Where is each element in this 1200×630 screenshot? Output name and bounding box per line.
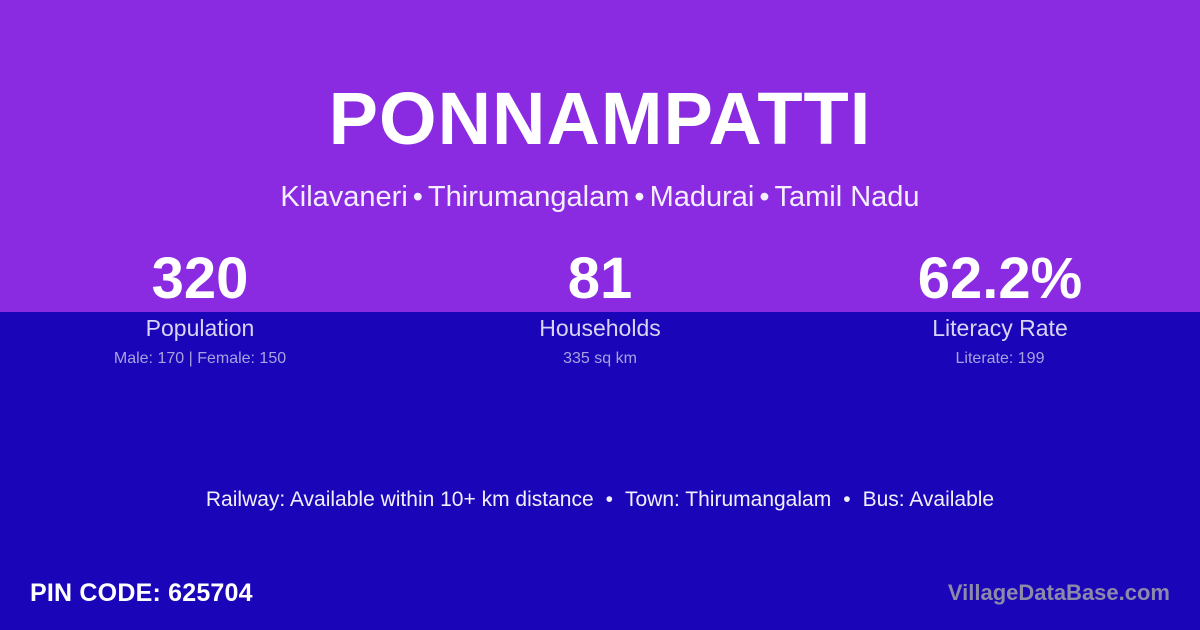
stats-row: 320 Population Male: 170 | Female: 150 8… bbox=[0, 246, 1200, 369]
breadcrumb-separator-1: • bbox=[408, 181, 428, 213]
stat-population: 320 Population Male: 170 | Female: 150 bbox=[0, 246, 400, 369]
breadcrumb-district: Madurai bbox=[650, 181, 755, 213]
stat-population-label: Population bbox=[0, 313, 400, 343]
stat-literacy-rate-sub: Literate: 199 bbox=[800, 349, 1200, 369]
amenity-separator-1: • bbox=[594, 488, 625, 511]
site-brand: VillageDataBase.com bbox=[948, 579, 1170, 607]
page-title: PONNAMPATTI bbox=[0, 82, 1200, 156]
stat-population-value: 320 bbox=[0, 246, 400, 312]
breadcrumb: Kilavaneri•Thirumangalam•Madurai•Tamil N… bbox=[0, 182, 1200, 214]
amenity-railway: Railway: Available within 10+ km distanc… bbox=[206, 488, 594, 511]
breadcrumb-separator-2: • bbox=[629, 181, 649, 213]
amenity-town: Town: Thirumangalam bbox=[625, 488, 831, 511]
stat-households-sub: 335 sq km bbox=[400, 349, 800, 369]
breadcrumb-taluk: Thirumangalam bbox=[428, 181, 629, 213]
stat-households: 81 Households 335 sq km bbox=[400, 246, 800, 369]
stat-households-label: Households bbox=[400, 313, 800, 343]
stat-population-sub: Male: 170 | Female: 150 bbox=[0, 349, 400, 369]
breadcrumb-panchayat: Kilavaneri bbox=[280, 181, 407, 213]
pin-code: PIN CODE: 625704 bbox=[30, 578, 253, 608]
breadcrumb-separator-3: • bbox=[754, 181, 774, 213]
village-info-card: PONNAMPATTI Kilavaneri•Thirumangalam•Mad… bbox=[0, 0, 1200, 630]
stat-literacy-rate: 62.2% Literacy Rate Literate: 199 bbox=[800, 246, 1200, 369]
amenity-separator-2: • bbox=[831, 488, 862, 511]
breadcrumb-state: Tamil Nadu bbox=[775, 181, 920, 213]
footer-bar: PIN CODE: 625704 VillageDataBase.com bbox=[0, 556, 1200, 630]
amenity-bus: Bus: Available bbox=[863, 488, 995, 511]
stat-literacy-rate-label: Literacy Rate bbox=[800, 313, 1200, 343]
stat-literacy-rate-value: 62.2% bbox=[800, 246, 1200, 312]
amenities-bar: Railway: Available within 10+ km distanc… bbox=[0, 486, 1200, 514]
stat-households-value: 81 bbox=[400, 246, 800, 312]
